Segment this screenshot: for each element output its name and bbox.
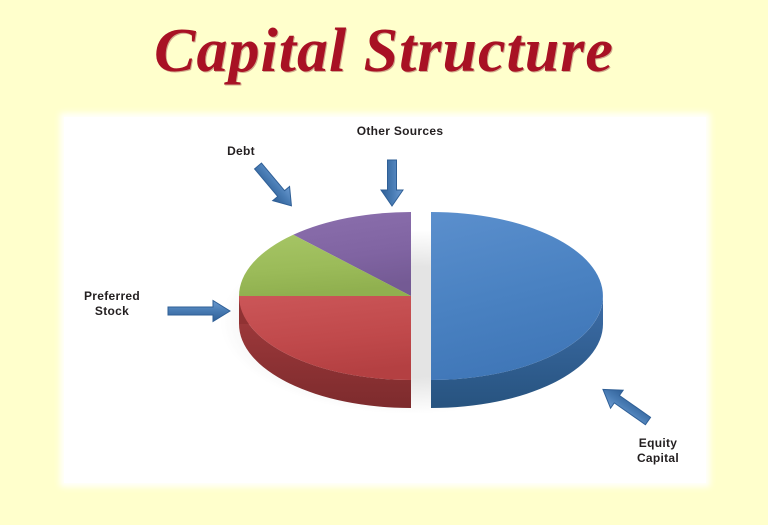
chart-canvas: Capital Structure [0,0,768,525]
label-other-sources: Other Sources [336,124,464,139]
label-equity-capital: Equity Capital [616,436,700,466]
label-debt: Debt [206,144,276,159]
arrow-down-right-icon [250,159,300,213]
label-preferred-stock: Preferred Stock [62,289,162,319]
arrow-right-icon [168,301,230,322]
arrow-down-icon [381,160,403,206]
arrow-up-left-icon [597,380,655,430]
